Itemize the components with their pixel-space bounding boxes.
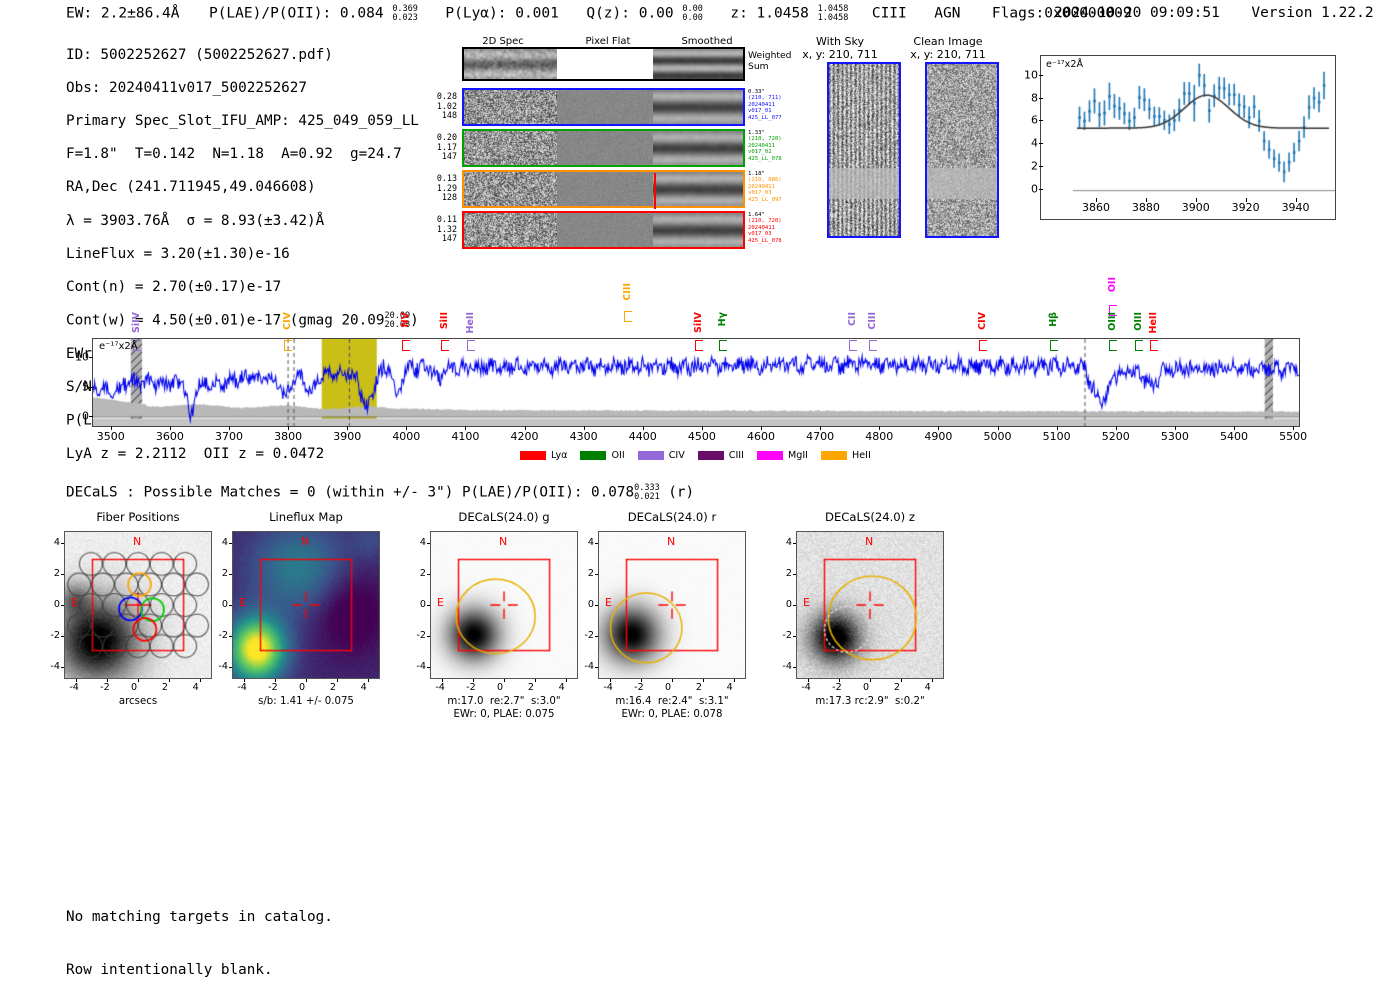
info-line: λ = 3903.76Å σ = 8.93(±3.42)Å [66, 213, 419, 230]
spectrum-line-label: HeII [1148, 312, 1159, 333]
spectrum-xtickmark [1116, 426, 1117, 430]
cutout-xtick: -4 [801, 682, 811, 693]
fiber-meta-line: 425_LL_097 [748, 197, 782, 203]
header-qz-range: 0.000.00 [682, 5, 702, 22]
fiber-smoothed-image [653, 172, 743, 206]
legend-label: HeII [852, 450, 871, 461]
cutout-ytick: -4 [580, 661, 594, 672]
cutout-ytick: 2 [46, 568, 60, 579]
spectrum-line-label: CIII [622, 283, 633, 301]
spectrum-line-label: SiII [439, 312, 450, 329]
info-line: Cont(n) = 2.70(±0.17)e-17 [66, 279, 419, 296]
cutout-caption-primary: m:17.3 rc:2.9" s:0.2" [778, 696, 962, 708]
info-line: Obs: 20240411v017_5002252627 [66, 80, 419, 97]
cutout-xtick: -2 [100, 682, 110, 693]
line-position-marker [654, 173, 656, 209]
spectrum-xtick: 3900 [333, 430, 361, 443]
fiber-left-stat-value: 128 [425, 193, 457, 203]
cutout-ytick: 0 [580, 599, 594, 610]
legend-item: Lyα [520, 450, 567, 461]
spectrum-xtick: 4300 [570, 430, 598, 443]
legend-swatch [821, 451, 847, 460]
spectrum-line-label: NV [400, 312, 411, 327]
cutout-xtick: 4 [193, 682, 199, 693]
fiber-meta-line: 425_LL_078 [748, 156, 782, 162]
cutout-xtickmark [901, 679, 902, 682]
cutout-ytick: 2 [412, 568, 426, 579]
compass-east-label: E [437, 596, 444, 609]
spectrum-xtickmark [702, 426, 703, 430]
cutout-title: DECaLS(24.0) r [598, 510, 746, 524]
spectrum-xtick: 5400 [1220, 430, 1248, 443]
full-spectrum-panel [92, 338, 1300, 427]
fiber-left-stats: 0.201.17147 [425, 133, 457, 162]
fitplot-ytickmark [1039, 143, 1043, 144]
info-line: RA,Dec (241.711945,49.046608) [66, 179, 419, 196]
spectrum-line-bracket [719, 340, 727, 351]
spectrum-xtickmark [1293, 426, 1294, 430]
cutout-xtickmark [504, 679, 505, 682]
cutout-ytick: 0 [214, 599, 228, 610]
info-cont-w: Cont(w) = 4.50(±0.01)e-17 (gmag 20.0920.… [66, 312, 419, 329]
cutout-title: DECaLS(24.0) z [796, 510, 944, 524]
fitplot-xtickmark [1096, 198, 1097, 202]
cutout-ytickmark [61, 543, 64, 544]
cutout-xtickmark [566, 679, 567, 682]
spectrum-line-label: CII [847, 312, 858, 326]
spectrum-line-label: OIII [1107, 312, 1118, 331]
spectrum-xtickmark [643, 426, 644, 430]
fiber-left-stat-value: 148 [425, 111, 457, 121]
cutout-xtick: 0 [665, 682, 671, 693]
cutout-caption-secondary: EWr: 0, PLAE: 0.078 [580, 709, 764, 721]
cutout-xtick: 2 [696, 682, 702, 693]
spectrum-line-label: OII [1107, 277, 1118, 292]
cutout-xtick: 2 [330, 682, 336, 693]
fitplot-xtickmark [1146, 198, 1147, 202]
fiber-left-stat-value: 147 [425, 234, 457, 244]
spectrum-xtick: 3800 [274, 430, 302, 443]
spectrum-xtickmark [229, 426, 230, 430]
fitplot-ytick: 2 [1020, 160, 1038, 173]
legend-item: OII [580, 450, 624, 461]
info-line: F=1.8" T=0.142 N=1.18 A=0.92 g=24.7 [66, 146, 419, 163]
cutout-ytick: 0 [412, 599, 426, 610]
spectrum-xtickmark [584, 426, 585, 430]
fiber-right-meta: 1.33"(210, 720)20240411v017_02425_LL_078 [748, 130, 782, 162]
fiber-2dspec-image [464, 213, 557, 247]
cutout-xtick: -2 [832, 682, 842, 693]
cutout-ytickmark [595, 605, 598, 606]
legend-swatch [520, 451, 546, 460]
fitplot-xtickmark [1246, 198, 1247, 202]
cutout-xtickmark [200, 679, 201, 682]
fiber-pixelflat-image [557, 90, 653, 124]
legend-swatch [580, 451, 606, 460]
cutout-ytickmark [61, 636, 64, 637]
cutout-caption-primary: s/b: 1.41 +/- 0.075 [214, 696, 398, 708]
emission-line-fit-plot: e⁻¹⁷x2Å [1040, 55, 1336, 220]
spectrum-line-label: CIII [867, 312, 878, 330]
legend-swatch [698, 451, 724, 460]
cutout-ytick: 4 [46, 537, 60, 548]
compass-north-label: N [667, 535, 675, 548]
spectrum-xtickmark [111, 426, 112, 430]
cutout-xtickmark [839, 679, 840, 682]
spectrum-xtick: 4500 [688, 430, 716, 443]
cutout-ytick: -4 [778, 661, 792, 672]
spectrum-line-bracket [979, 340, 987, 351]
footer-line-2: Row intentionally blank. [66, 962, 333, 980]
fitplot-ytickmark [1039, 189, 1043, 190]
spectrum-line-bracket [284, 340, 292, 351]
fitplot-xtick: 3920 [1232, 201, 1260, 214]
fiber-right-meta: 1.18"(210, 886)20240411v017_03425_LL_097 [748, 171, 782, 203]
header-ew: EW: 2.2±86.4Å [66, 6, 180, 22]
cutout-ytickmark [793, 636, 796, 637]
cutout-ytick: -2 [46, 630, 60, 641]
header-class: AGN [934, 6, 960, 22]
cutout-xtick: -4 [237, 682, 247, 693]
cutout-xtick: -4 [603, 682, 613, 693]
fitplot-ytick: 8 [1020, 91, 1038, 104]
header-summary-line: EW: 2.2±86.4Å P(LAE)/P(OII): 0.084 0.369… [66, 5, 1132, 22]
cutout-ytickmark [595, 574, 598, 575]
legend-item: MgII [757, 450, 808, 461]
spectrum-xtickmark [998, 426, 999, 430]
spectrum-legend: LyαOIICIVCIIIMgIIHeII [520, 450, 871, 461]
spectrum-ytick: 10 [69, 350, 89, 363]
spectrum-ytickmark [89, 357, 93, 358]
spectrum-line-bracket [1050, 340, 1058, 351]
fitplot-xtick: 3900 [1182, 201, 1210, 214]
spectrum-xtick: 4200 [511, 430, 539, 443]
header-plya: P(Lyα): 0.001 [445, 6, 559, 22]
cutout-ytick: -2 [214, 630, 228, 641]
fitplot-ytickmark [1039, 75, 1043, 76]
spectrum-line-label: Hβ [1048, 312, 1059, 327]
cutout-image[interactable] [430, 531, 578, 679]
header-z-label: z: 1.0458 [730, 6, 809, 22]
spectrum-xtickmark [170, 426, 171, 430]
cutout-xtick: -2 [268, 682, 278, 693]
spectrum-xtick: 4800 [865, 430, 893, 443]
cutout-ytickmark [793, 543, 796, 544]
cutout-xtick: -2 [466, 682, 476, 693]
cutout-xtickmark [870, 679, 871, 682]
fiber-pixelflat-image [557, 213, 653, 247]
fiber-2d-spec-row [462, 129, 745, 167]
fiber-meta-line: (210, 720) [748, 218, 782, 224]
spectrum-xtick: 5500 [1279, 430, 1307, 443]
spectrum-line-label: HeII [465, 312, 476, 333]
cutout-ytickmark [61, 574, 64, 575]
compass-north-label: N [301, 535, 309, 548]
cutout-xtickmark [932, 679, 933, 682]
spectrum-xtick: 4400 [629, 430, 657, 443]
cutout-ytickmark [427, 574, 430, 575]
cutout-ytickmark [229, 636, 232, 637]
fiber-2d-spec-row [462, 88, 745, 126]
info-line: Primary Spec_Slot_IFU_AMP: 425_049_059_L… [66, 113, 419, 130]
spectrum-xtickmark [1057, 426, 1058, 430]
fitplot-ytickmark [1039, 166, 1043, 167]
spectrum-xtick: 3600 [156, 430, 184, 443]
fitplot-ytick: 0 [1020, 183, 1038, 196]
spectrum-ytick: 0 [69, 410, 89, 423]
compass-north-label: N [865, 535, 873, 548]
spectrum-xtickmark [761, 426, 762, 430]
cutout-ytick: -4 [412, 661, 426, 672]
fiber-smoothed-image [653, 131, 743, 165]
spectrum-xtickmark [347, 426, 348, 430]
legend-item: CIV [638, 450, 685, 461]
compass-north-label: N [499, 535, 507, 548]
header-plae-range: 0.3690.023 [392, 5, 418, 22]
fiber-2d-spec-row [462, 170, 745, 208]
spectrum-xtickmark [525, 426, 526, 430]
fiber-2dspec-image [464, 90, 557, 124]
spectrum-xtickmark [938, 426, 939, 430]
cutout-ytickmark [793, 667, 796, 668]
spectrum-line-bracket [1150, 340, 1158, 351]
cutout-ytickmark [595, 543, 598, 544]
cutout-ytick: -2 [580, 630, 594, 641]
spectrum-line-label: SiIV [131, 312, 142, 333]
cutout-image[interactable] [598, 531, 746, 679]
cutout-xtickmark [368, 679, 369, 682]
fiber-left-stats: 0.111.32147 [425, 215, 457, 244]
spectrum-xtick: 4700 [806, 430, 834, 443]
spectrum-line-label: CIV [282, 312, 293, 330]
cutout-xtickmark [306, 679, 307, 682]
cutout-ytickmark [793, 605, 796, 606]
spectrum-ytick: 5 [69, 380, 89, 393]
spectrum-line-label: SiIV [693, 312, 704, 333]
cutout-xtickmark [672, 679, 673, 682]
spectrum-xtick: 4900 [924, 430, 952, 443]
cutout-xtickmark [275, 679, 276, 682]
legend-item: CIII [698, 450, 744, 461]
spectrum-line-bracket [849, 340, 857, 351]
cutout-ytickmark [793, 574, 796, 575]
cutout-xtickmark [138, 679, 139, 682]
cutout-ytick: 2 [580, 568, 594, 579]
cutout-xtickmark [535, 679, 536, 682]
cutout-xtick: 2 [528, 682, 534, 693]
cutout-xtickmark [442, 679, 443, 682]
info-line: LineFlux = 3.20(±1.30)e-16 [66, 246, 419, 263]
fitplot-units-annotation: e⁻¹⁷x2Å [1046, 59, 1083, 70]
legend-label: MgII [788, 450, 808, 461]
cutout-ytick: 0 [46, 599, 60, 610]
spec2d-col-title-2dspec: 2D Spec [463, 36, 543, 47]
cutout-ytick: 4 [214, 537, 228, 548]
spectrum-line-bracket [1135, 340, 1143, 351]
fiber-smoothed-image [653, 90, 743, 124]
fiber-right-meta: 0.33"(210, 711)20240411v017_01425_LL_077 [748, 89, 782, 121]
header-z-range: 1.04581.0458 [818, 5, 849, 22]
cutout-ytick: 2 [214, 568, 228, 579]
cutout-ytick: -4 [46, 661, 60, 672]
header-plae-label: P(LAE)/P(OII): [209, 6, 331, 22]
cutout-xtick: 4 [361, 682, 367, 693]
header-version: Version 1.22.2 [1251, 5, 1373, 21]
fiber-2dspec-image [464, 131, 557, 165]
fitplot-ytickmark [1039, 120, 1043, 121]
fitplot-xtick: 3880 [1132, 201, 1160, 214]
cutout-caption-primary: arcsecs [46, 696, 230, 708]
cutout-xtick: -2 [634, 682, 644, 693]
spectrum-xtick: 4100 [451, 430, 479, 443]
cutout-caption-secondary: EWr: 0, PLAE: 0.075 [412, 709, 596, 721]
cutout-caption-primary: m:17.0 re:2.7" s:3.0" [412, 696, 596, 708]
cutout-xtickmark [641, 679, 642, 682]
spectrum-line-label: CIV [977, 312, 988, 330]
thumb-title-with-sky: With Sky x, y: 210, 711 [785, 36, 895, 61]
spectrum-line-bracket [441, 340, 449, 351]
cutout-ytickmark [61, 605, 64, 606]
thumb-title-clean-image: Clean Image x, y: 210, 711 [893, 36, 1003, 61]
cutout-ytick: 4 [778, 537, 792, 548]
cutout-xtickmark [244, 679, 245, 682]
spectrum-xtick: 4600 [747, 430, 775, 443]
header-timestamp: 2024-10-20 09:09:51 [1054, 5, 1220, 21]
spectrum-line-bracket [869, 340, 877, 351]
compass-north-label: N [133, 535, 141, 548]
weighted-sum-row [462, 47, 745, 81]
cutout-ytickmark [427, 667, 430, 668]
spectrum-xtick: 3500 [97, 430, 125, 443]
cutout-xtickmark [107, 679, 108, 682]
spectrum-xtick: 5100 [1043, 430, 1071, 443]
spectrum-xtickmark [1234, 426, 1235, 430]
info-line: ID: 5002252627 (5002252627.pdf) [66, 47, 419, 64]
legend-label: Lyα [551, 450, 567, 461]
footer-note: No matching targets in catalog. Row inte… [66, 874, 333, 997]
fitplot-ytick: 6 [1020, 114, 1038, 127]
spectrum-ytickmark [89, 387, 93, 388]
cutout-xtick: 0 [863, 682, 869, 693]
spectrum-line-bracket [467, 340, 475, 351]
spectrum-line-label: Hγ [717, 312, 728, 326]
header-qz-label: Q(z): 0.00 [586, 6, 673, 22]
cutout-image[interactable] [796, 531, 944, 679]
spectrum-xtickmark [406, 426, 407, 430]
fitplot-xtickmark [1196, 198, 1197, 202]
spectrum-xtick: 4000 [392, 430, 420, 443]
cutout-xtick: 4 [559, 682, 565, 693]
cutout-ytick: -2 [778, 630, 792, 641]
cutout-ytickmark [595, 667, 598, 668]
cutout-xtickmark [734, 679, 735, 682]
spectrum-xtick: 5000 [984, 430, 1012, 443]
header-line-id: CIII [872, 6, 907, 22]
thumb-clean-image [925, 62, 999, 238]
cutout-image[interactable] [232, 531, 380, 679]
cutout-ytickmark [229, 574, 232, 575]
thumb-with-sky [827, 62, 901, 238]
fitplot-ytick: 10 [1020, 68, 1038, 81]
spec2d-col-title-pixelflat: Pixel Flat [563, 36, 653, 47]
cutout-xtick: -4 [435, 682, 445, 693]
fiber-2dspec-image [464, 172, 557, 206]
compass-east-label: E [239, 596, 246, 609]
cutout-caption-primary: m:16.4 re:2.4" s:3.1" [580, 696, 764, 708]
spectrum-xtickmark [465, 426, 466, 430]
spectrum-xtickmark [1175, 426, 1176, 430]
fiber-meta-line: (210, 711) [748, 95, 782, 101]
cutout-xtickmark [169, 679, 170, 682]
cutout-xtickmark [473, 679, 474, 682]
legend-swatch [638, 451, 664, 460]
fiber-meta-line: (210, 886) [748, 177, 782, 183]
spec2d-col-title-smoothed: Smoothed [662, 36, 752, 47]
legend-item: HeII [821, 450, 871, 461]
cutout-xtick: 0 [131, 682, 137, 693]
cutout-image[interactable] [64, 531, 212, 679]
legend-label: OII [611, 450, 624, 461]
fitplot-ytickmark [1039, 98, 1043, 99]
spectrum-xtickmark [879, 426, 880, 430]
fiber-meta-line: 425_LL_078 [748, 238, 782, 244]
spectrum-xtick: 3700 [215, 430, 243, 443]
fiber-left-stats: 0.281.02148 [425, 92, 457, 121]
spectrum-line-bracket [1109, 340, 1117, 351]
fiber-2d-spec-row [462, 211, 745, 249]
cutout-ytickmark [595, 636, 598, 637]
cutout-xtickmark [808, 679, 809, 682]
spectrum-xtickmark [288, 426, 289, 430]
decals-header: DECaLS : Possible Matches = 0 (within +/… [66, 484, 694, 501]
legend-label: CIV [669, 450, 685, 461]
fiber-left-stat-value: 147 [425, 152, 457, 162]
fitplot-xtick: 3860 [1082, 201, 1110, 214]
cutout-title: Fiber Positions [64, 510, 212, 524]
cutout-ytick: 2 [778, 568, 792, 579]
cutout-ytickmark [229, 543, 232, 544]
spectrum-xtick: 5300 [1161, 430, 1189, 443]
header-plae-value: 0.084 [340, 6, 384, 22]
fiber-pixelflat-image [557, 131, 653, 165]
spectrum-line-label: OIII [1133, 312, 1144, 331]
cutout-xtickmark [703, 679, 704, 682]
fiber-smoothed-image [653, 213, 743, 247]
cutout-xtick: -4 [69, 682, 79, 693]
spectrum-xtick: 5200 [1102, 430, 1130, 443]
cutout-xtick: 0 [497, 682, 503, 693]
cutout-ytick: 4 [580, 537, 594, 548]
fiber-right-meta: 1.64"(210, 720)20240411v017_03425_LL_078 [748, 212, 782, 244]
cutout-xtickmark [337, 679, 338, 682]
footer-line-1: No matching targets in catalog. [66, 909, 333, 927]
cutout-xtick: 0 [299, 682, 305, 693]
cutout-title: DECaLS(24.0) g [430, 510, 578, 524]
spectrum-line-bracket [402, 340, 410, 351]
cutout-xtickmark [76, 679, 77, 682]
cutout-ytickmark [427, 605, 430, 606]
cutout-title: Lineflux Map [232, 510, 380, 524]
info-redshifts: LyA z = 2.2112 OII z = 0.0472 [66, 446, 419, 463]
cutout-ytick: -2 [412, 630, 426, 641]
compass-east-label: E [71, 596, 78, 609]
cutout-ytick: -4 [214, 661, 228, 672]
legend-label: CIII [729, 450, 744, 461]
spectrum-line-bracket [624, 311, 632, 322]
fitplot-ytick: 4 [1020, 137, 1038, 150]
cutout-ytickmark [427, 543, 430, 544]
cutout-ytickmark [427, 636, 430, 637]
